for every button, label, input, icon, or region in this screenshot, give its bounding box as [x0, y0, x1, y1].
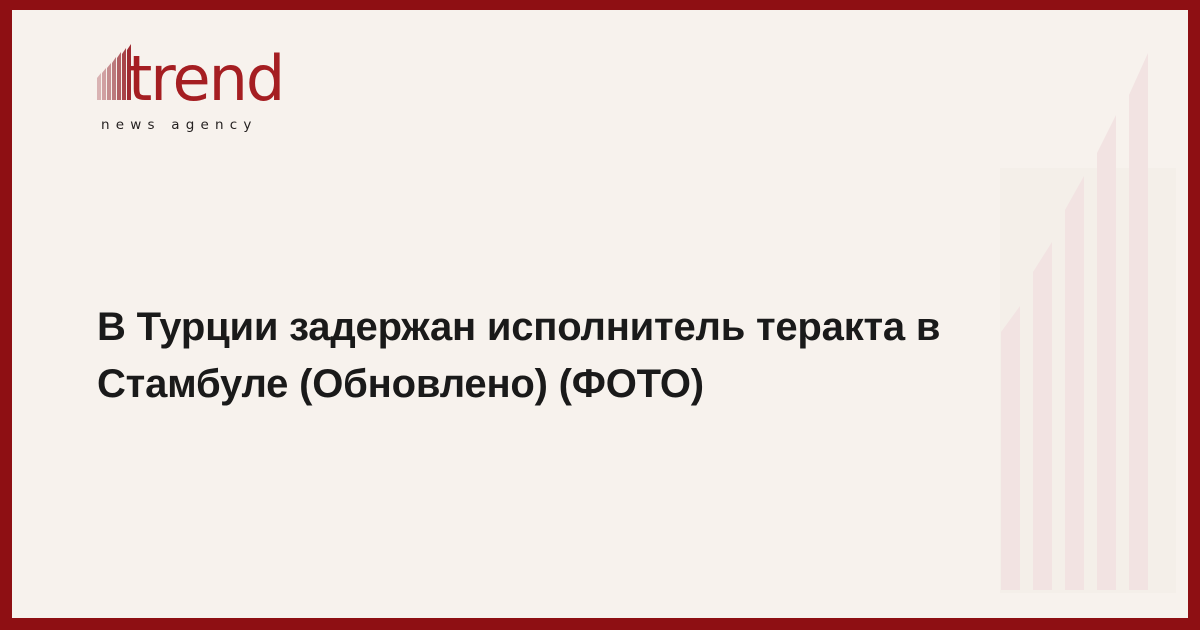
logo-bar-tip [107, 63, 111, 68]
watermark-bar [1001, 332, 1020, 590]
watermark-bar-tip [1065, 176, 1084, 210]
logo-bar [97, 78, 101, 100]
watermark-backdrop [1000, 168, 1176, 593]
logo-bar [117, 58, 121, 100]
watermark-bars-graphic [988, 10, 1188, 618]
logo-tagline: news agency [101, 117, 427, 133]
watermark-bar-tip [1001, 306, 1020, 332]
logo-mark-row: trend [97, 42, 427, 104]
logo-bar-tip [97, 73, 101, 78]
watermark-bar-tip [1129, 53, 1148, 95]
watermark-bar [1097, 153, 1116, 590]
watermark-bar [1033, 272, 1052, 590]
social-card: trend news agency В Турции задержан испо… [0, 0, 1200, 630]
logo-bar [112, 63, 116, 100]
logo-bar-tip [102, 68, 106, 73]
card-body: trend news agency В Турции задержан испо… [12, 10, 1188, 618]
logo-bar [107, 68, 111, 100]
logo-bar-tip [112, 57, 116, 63]
trend-logo[interactable]: trend news agency [97, 42, 427, 133]
article-headline: В Турции задержан исполнитель теракта в … [97, 299, 947, 413]
watermark-bar [1129, 95, 1148, 590]
watermark-bar [1065, 210, 1084, 590]
watermark-bar-tip [1097, 115, 1116, 153]
logo-bar [102, 73, 106, 100]
logo-bar-tip [117, 52, 121, 58]
watermark-bar-tip [1033, 242, 1052, 272]
logo-wordmark: trend [128, 48, 283, 110]
logo-bar [122, 54, 126, 100]
logo-bar-tip [122, 48, 126, 54]
